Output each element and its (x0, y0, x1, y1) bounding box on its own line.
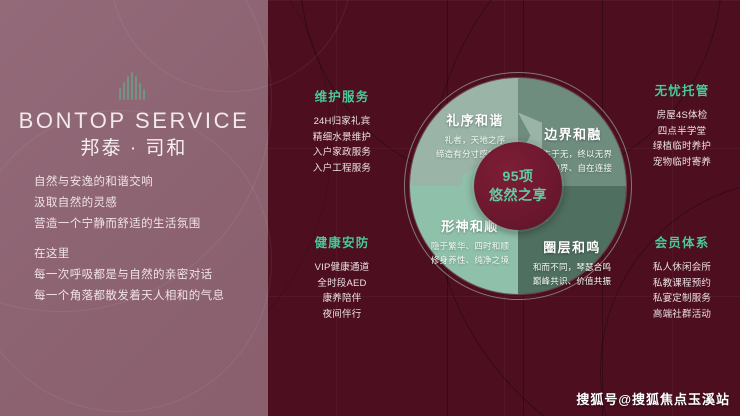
wheel-label-title: 圈层和鸣 (508, 237, 636, 256)
service-item: 私教课程预约 (634, 276, 730, 292)
service-item: 四点半学堂 (634, 124, 730, 140)
wheel-label-title: 边界和融 (510, 124, 636, 143)
lead-line: 在这里 (34, 244, 262, 265)
wheel-label-bottom-right: 圈层和鸣 和而不同，琴瑟合鸣 巅峰共识、价值共振 (508, 237, 636, 288)
service-item: 房屋4S体检 (634, 108, 730, 124)
page-title-en: BONTOP SERVICE (0, 108, 268, 134)
lead-line: 自然与安逸的和谐交响 (34, 172, 262, 193)
service-item: 私宴定制服务 (634, 291, 730, 307)
service-column-custody: 无忧托管 房屋4S体检 四点半学堂 绿植临时养护 宠物临时寄养 (634, 80, 730, 170)
service-column-maintenance: 维护服务 24H归家礼宾 精细水景维护 入户家政服务 入户工程服务 (294, 86, 390, 176)
wheel-center-count: 95项 (502, 167, 533, 186)
service-column-title: 健康安防 (294, 232, 390, 251)
concept-wheel-diagram: 礼序和谐 礼者，天地之序 缔造有分寸感的礼仪 边界和融 有生于无，终以无界 打破… (404, 72, 632, 300)
service-item: 全时段AED (294, 276, 390, 292)
wheel-center-label: 悠然之享 (489, 186, 547, 205)
service-item: 康养陪伴 (294, 291, 390, 307)
service-item: 入户家政服务 (294, 145, 390, 161)
hero-lead-text: 自然与安逸的和谐交响 汲取自然的灵感 营造一个宁静而舒适的生活氛围 在这里 每一… (34, 172, 262, 307)
watermark: 搜狐号@搜狐焦点玉溪站 (576, 389, 730, 408)
service-item: 高端社群活动 (634, 307, 730, 323)
service-column-title: 无忧托管 (634, 80, 730, 99)
service-item: 精细水景维护 (294, 130, 390, 146)
service-item: 夜间伴行 (294, 307, 390, 323)
wheel-center-badge: 95项 悠然之享 (474, 142, 562, 230)
service-item: 24H归家礼宾 (294, 114, 390, 130)
page-title-cn: 邦泰 · 司和 (0, 133, 268, 160)
lead-line: 每一个角落都散发着天人相和的气息 (34, 286, 262, 307)
lead-line: 营造一个宁静而舒适的生活氛围 (34, 214, 262, 235)
service-item: 宠物临时寄养 (634, 155, 730, 171)
slide-canvas: BONTOP SERVICE 邦泰 · 司和 自然与安逸的和谐交响 汲取自然的灵… (0, 0, 740, 416)
service-item: 入户工程服务 (294, 161, 390, 177)
service-column-title: 会员体系 (634, 232, 730, 251)
decorative-bars-icon (119, 72, 145, 100)
service-column-title: 维护服务 (294, 86, 390, 105)
service-column-membership: 会员体系 私人休闲会所 私教课程预约 私宴定制服务 高端社群活动 (634, 232, 730, 322)
lead-line: 每一次呼吸都是与自然的亲密对话 (34, 265, 262, 286)
wheel-label-line: 和而不同，琴瑟合鸣 (508, 261, 636, 275)
service-item: VIP健康通道 (294, 260, 390, 276)
service-item: 私人休闲会所 (634, 260, 730, 276)
lead-line: 汲取自然的灵感 (34, 193, 262, 214)
wheel-label-line: 巅峰共识、价值共振 (508, 275, 636, 289)
service-item: 绿植临时养护 (634, 139, 730, 155)
service-column-health: 健康安防 VIP健康通道 全时段AED 康养陪伴 夜间伴行 (294, 232, 390, 322)
